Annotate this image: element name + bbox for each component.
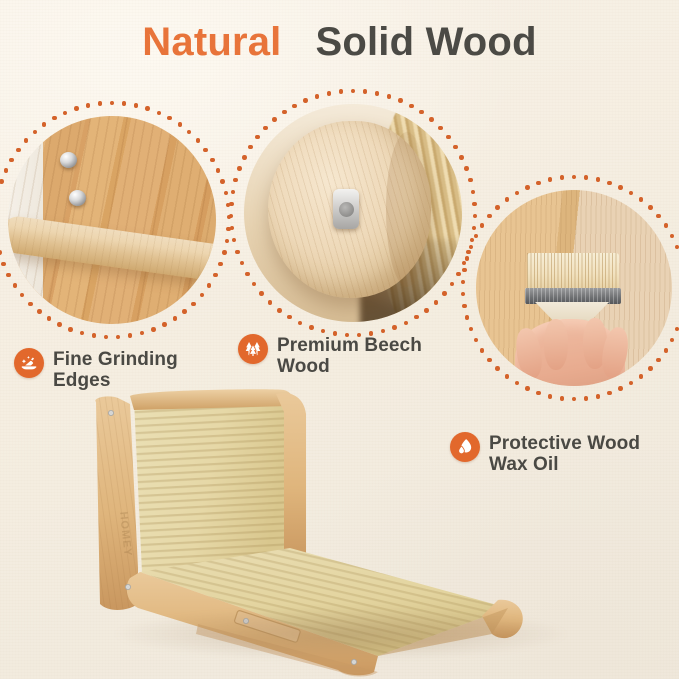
pine-trees-icon [238,334,268,364]
product-drop-shadow [116,608,566,660]
infographic-canvas: Natural Solid Wood [0,0,679,679]
feature-photo-fine-grinding-edges [8,116,216,324]
feature-photo-protective-wood-wax-oil [476,190,672,386]
finger [544,319,568,370]
metal-screw-upper [60,152,77,168]
post-screw-bottom [125,584,130,589]
brush-bristles [527,253,619,290]
sanding-block-icon [14,348,44,378]
metal-screw-center [333,189,359,229]
rail-screw [351,659,356,664]
feature-label-text: Premium Beech Wood [277,334,468,378]
page-title: Natural Solid Wood [0,20,679,65]
title-word-solid-wood: Solid Wood [315,20,536,64]
post-screw-top [108,410,113,415]
product-photo-cat-scratcher-lounger: HOMEY [78,372,598,679]
feature-label-premium-beech-wood: Premium Beech Wood [238,334,468,378]
title-word-natural: Natural [142,20,281,64]
photo-beech-knob [244,104,462,322]
photo-wax-oil-brushing [476,190,672,386]
feature-photo-premium-beech-wood [244,104,462,322]
brush-ferrule [525,288,621,304]
metal-screw-lower [69,190,86,206]
photo-sanded-edge [8,116,216,324]
